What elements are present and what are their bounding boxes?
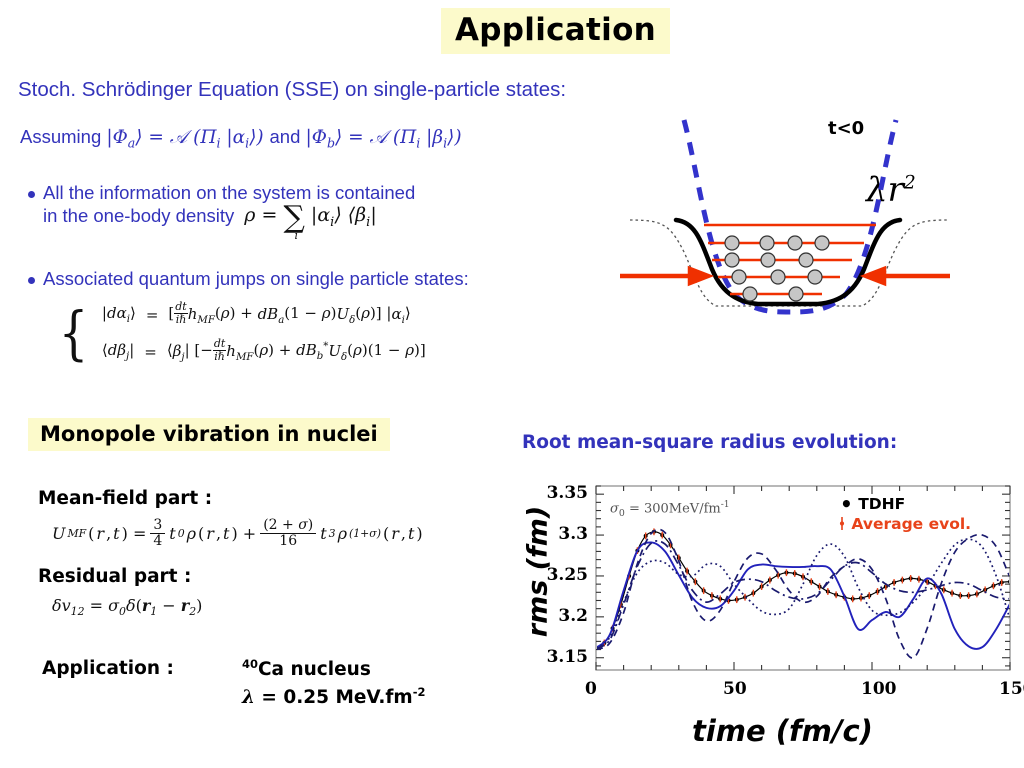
slide-root: Application Stoch. Schrödinger Equation … <box>0 0 1024 768</box>
lambda-line: λ = 0.25 MeV.fm-2 <box>242 684 425 712</box>
potential-well-diagram <box>612 112 1024 360</box>
lambda-exponent: -2 <box>413 685 426 699</box>
phi-b-expression: |Φb⟩ = 𝒜 (Πi |βi⟩) <box>306 127 462 148</box>
quantum-jump-equations: { |dαi⟩ = [dtiℏhMF(ρ) + dBa(1 − ρ)Uδ(ρ)]… <box>55 296 426 370</box>
chart-y-tick: 3.3 <box>558 524 588 544</box>
chart-y-tick: 3.25 <box>547 565 588 585</box>
chart-x-tick: 50 <box>723 679 747 699</box>
mean-field-heading: Mean-field part : <box>38 488 212 509</box>
chart-x-axis-label: time (fm/c) <box>692 714 873 748</box>
legend-dot-icon: • <box>840 492 853 516</box>
residual-equation: δv12 = σ0δ(r1 − r2) <box>52 596 202 618</box>
chart-annotation-sigma: σ0 = 300MeV/fm-1 <box>610 500 730 519</box>
section-heading-monopole: Monopole vibration in nuclei <box>28 418 390 451</box>
assuming-equation-line: Assuming |Φa⟩ = 𝒜 (Πi |αi⟩) and |Φb⟩ = 𝒜… <box>20 126 462 151</box>
sigma-text: = 300MeV/fm <box>625 501 721 516</box>
equation-dbeta: ⟨dβj| = ⟨βj| [−dtiℏhMF(ρ) + dBb*Uδ(ρ)(1 … <box>102 333 426 370</box>
chart-x-tick: 0 <box>585 679 597 699</box>
sigma-exponent: -1 <box>721 500 730 510</box>
left-brace-glyph: { <box>59 307 89 359</box>
assuming-label: Assuming <box>20 126 101 147</box>
chart-x-tick: 150 <box>999 679 1024 699</box>
bullet-dot-icon <box>28 277 35 284</box>
bullet2-line1: Associated quantum jumps on single parti… <box>43 268 469 291</box>
rho-definition: ρ = ∑i |αi⟩ ⟨βi| <box>244 203 376 231</box>
equation-dalpha: |dαi⟩ = [dtiℏhMF(ρ) + dBa(1 − ρ)Uδ(ρ)] |… <box>102 296 426 333</box>
nucleon-circles <box>725 236 829 301</box>
nucleus-mass-number: 40 <box>242 657 258 671</box>
legend-errorbar-icon <box>838 515 846 533</box>
chart-y-tick: 3.2 <box>558 606 588 626</box>
sse-subtitle: Stoch. Schrödinger Equation (SSE) on sin… <box>18 78 566 102</box>
legend-label-tdhf: TDHF <box>858 495 905 513</box>
bullet-text-block: All the information on the system is con… <box>43 182 415 232</box>
bullet-dot-icon <box>28 191 35 198</box>
chart-plot-area <box>492 470 1024 710</box>
chart-y-tick: 3.15 <box>547 647 588 667</box>
application-heading: Application : <box>42 658 174 679</box>
lambda-value: = 0.25 MeV.fm <box>255 687 413 708</box>
bullet1-line2: in the one-body density <box>43 205 234 228</box>
residual-heading: Residual part : <box>38 566 191 587</box>
legend-entry-average: Average evol. <box>838 515 971 533</box>
chart-heading: Root mean-square radius evolution: <box>522 432 897 453</box>
phi-a-expression: |Φa⟩ = 𝒜 (Πi |αi⟩) <box>106 127 269 148</box>
bullet-item-density: All the information on the system is con… <box>28 182 628 232</box>
chart-y-tick: 3.35 <box>547 483 588 503</box>
lambda-symbol: λ <box>242 687 255 708</box>
harmonic-parabola <box>684 120 896 312</box>
bullet1-line1: All the information on the system is con… <box>43 182 415 205</box>
and-label: and <box>270 126 301 147</box>
chart-x-tick: 100 <box>861 679 897 699</box>
nucleus-line: 40Ca nucleus <box>242 656 425 684</box>
legend-label-average: Average evol. <box>851 515 971 533</box>
legend-entry-tdhf: • TDHF <box>840 495 905 513</box>
mean-field-equation: UMF(r,t) = 34 t0ρ(r,t) + (2 + σ)16 t3ρ(1… <box>52 518 423 550</box>
bullet-item-jumps: Associated quantum jumps on single parti… <box>28 268 628 291</box>
page-title: Application <box>441 8 670 54</box>
application-values: 40Ca nucleus λ = 0.25 MeV.fm-2 <box>242 656 425 712</box>
nucleus-name: Ca nucleus <box>258 659 371 680</box>
